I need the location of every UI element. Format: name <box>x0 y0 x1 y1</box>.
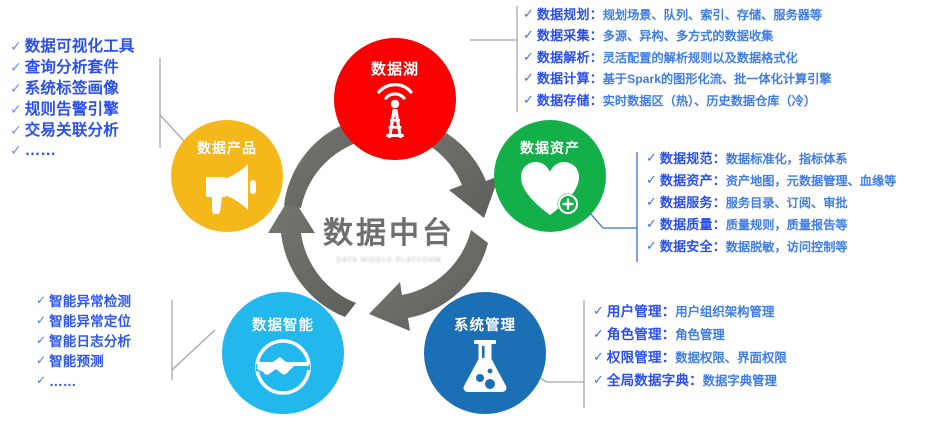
node-data-intelligence-label: 数据智能 <box>252 314 314 335</box>
list-item-text: 用户管理：用户组织架构管理 <box>607 303 774 322</box>
center-subtitle: DATA MIDDLE PLATFORM <box>336 257 441 264</box>
check-icon: ✓ <box>593 303 604 318</box>
list-item-text: 角色管理：角色管理 <box>607 326 725 345</box>
node-data-intelligence[interactable]: 数据智能 <box>222 292 344 414</box>
list-item-separator: ： <box>713 151 726 166</box>
list-item: ✓数据采集：多源、异构、多方式的数据收集 <box>523 27 832 46</box>
list-item: ✓智能预测 <box>36 353 131 372</box>
list-item-separator: ： <box>590 28 603 43</box>
list-item: ✓全局数据字典：数据字典管理 <box>593 372 787 391</box>
check-icon: ✓ <box>36 353 46 367</box>
list-item-description: 角色管理 <box>675 328 725 342</box>
list-item-term: 数据规划 <box>537 7 590 22</box>
list-item-term: …… <box>25 142 56 159</box>
list-item-term: 权限管理 <box>607 350 662 365</box>
list-item-description: 多源、异构、多方式的数据收集 <box>603 29 774 43</box>
list-item-text: 数据服务：服务目录、订阅、审批 <box>660 194 848 213</box>
list-item-text: 数据计算：基于Spark的图形化流、批一体化计算引擎 <box>537 70 832 89</box>
list-item: ✓数据规划：规划场景、队列、索引、存储、服务器等 <box>523 6 832 25</box>
list-item-separator: ： <box>590 93 603 108</box>
list-item-description: 灵活配置的解析规则以及数据格式化 <box>603 51 798 65</box>
list-item-term: 数据规范 <box>660 151 713 166</box>
list-item-description: 实时数据区（热）、历史数据仓库（冷） <box>603 94 816 108</box>
list-item-separator: ： <box>713 217 726 232</box>
node-data-lake-label: 数据湖 <box>371 58 419 79</box>
check-icon: ✓ <box>593 326 604 341</box>
check-icon: ✓ <box>646 238 657 253</box>
list-item-term: 数据采集 <box>537 28 590 43</box>
list-item-term: 全局数据字典 <box>607 373 689 388</box>
list-item-description: 质量规则，质量报告等 <box>726 218 848 232</box>
list-item-description: 数据权限、界面权限 <box>675 351 787 365</box>
node-data-lake[interactable]: 数据湖 <box>334 38 456 160</box>
text-block-data-assets: ✓数据规范：数据标准化，指标体系✓数据资产：资产地图，元数据管理、血缘等✓数据服… <box>646 150 896 259</box>
list-item-text: 交易关联分析 <box>25 122 119 141</box>
list-item: ✓系统标签画像 <box>10 80 135 99</box>
list-item: ✓数据服务：服务目录、订阅、审批 <box>646 194 896 213</box>
list-item-separator: ： <box>713 173 726 188</box>
list-item-text: 数据规范：数据标准化，指标体系 <box>660 150 848 169</box>
check-icon: ✓ <box>523 92 534 107</box>
page-title: 数据中台 <box>323 208 455 252</box>
node-system-management[interactable]: 系统管理 <box>424 292 546 414</box>
node-system-management-label: 系统管理 <box>454 314 516 335</box>
list-item: ✓数据质量：质量规则，质量报告等 <box>646 216 896 235</box>
list-item-description: 数据标准化，指标体系 <box>726 152 848 166</box>
list-item-separator: ： <box>662 327 676 342</box>
check-icon: ✓ <box>36 333 46 347</box>
check-icon: ✓ <box>523 70 534 85</box>
list-item-term: 角色管理 <box>607 327 662 342</box>
list-item-separator: ： <box>590 71 603 86</box>
check-icon: ✓ <box>36 293 46 307</box>
list-item-term: 智能异常定位 <box>49 314 131 329</box>
list-item: ✓交易关联分析 <box>10 122 135 141</box>
list-item: ✓…… <box>36 373 131 392</box>
list-item-text: 全局数据字典：数据字典管理 <box>607 372 777 391</box>
list-item: ✓…… <box>10 142 135 161</box>
check-icon: ✓ <box>646 216 657 231</box>
list-item: ✓智能日志分析 <box>36 333 131 352</box>
list-item-text: 智能日志分析 <box>49 333 131 352</box>
list-item: ✓智能异常检测 <box>36 293 131 312</box>
heart-plus-icon <box>519 160 581 218</box>
list-item-separator: ： <box>713 195 726 210</box>
text-block-data-products: ✓数据可视化工具✓查询分析套件✓系统标签画像✓规则告警引擎✓交易关联分析✓…… <box>10 38 135 163</box>
broadcast-tower-icon <box>366 82 424 142</box>
list-item-term: 规则告警引擎 <box>25 101 119 118</box>
list-item-description: 数据脱敏，访问控制等 <box>726 240 848 254</box>
list-item-separator: ： <box>662 304 676 319</box>
list-item: ✓数据资产：资产地图，元数据管理、血缘等 <box>646 172 896 191</box>
list-item-description: 规划场景、队列、索引、存储、服务器等 <box>603 8 822 22</box>
check-icon: ✓ <box>36 313 46 327</box>
list-item-separator: ： <box>689 373 703 388</box>
check-icon: ✓ <box>523 27 534 42</box>
list-item-term: 用户管理 <box>607 304 662 319</box>
text-block-data-lake: ✓数据规划：规划场景、队列、索引、存储、服务器等✓数据采集：多源、异构、多方式的… <box>523 6 832 113</box>
list-item-text: 权限管理：数据权限、界面权限 <box>607 349 787 368</box>
list-item-text: 智能异常定位 <box>49 313 131 332</box>
list-item-term: 智能日志分析 <box>49 334 131 349</box>
list-item-term: 数据资产 <box>660 173 713 188</box>
list-item-text: 智能预测 <box>49 353 104 372</box>
list-item: ✓数据可视化工具 <box>10 38 135 57</box>
check-icon: ✓ <box>646 150 657 165</box>
center-label-group: 数据中台 DATA MIDDLE PLATFORM <box>289 205 489 267</box>
list-item-term: 数据可视化工具 <box>25 38 135 55</box>
text-block-system-management: ✓用户管理：用户组织架构管理✓角色管理：角色管理✓权限管理：数据权限、界面权限✓… <box>593 303 787 395</box>
list-item: ✓数据存储：实时数据区（热）、历史数据仓库（冷） <box>523 92 832 111</box>
check-icon: ✓ <box>10 122 22 139</box>
megaphone-icon <box>196 162 258 214</box>
node-data-products-label: 数据产品 <box>197 138 257 158</box>
list-item-text: …… <box>25 142 56 161</box>
list-item-text: 系统标签画像 <box>25 80 119 99</box>
list-item-term: 智能预测 <box>49 354 104 369</box>
text-block-data-intelligence: ✓智能异常检测✓智能异常定位✓智能日志分析✓智能预测✓…… <box>36 293 131 392</box>
list-item: ✓数据规范：数据标准化，指标体系 <box>646 150 896 169</box>
list-item-description: 资产地图，元数据管理、血缘等 <box>726 174 897 188</box>
check-icon: ✓ <box>10 80 22 97</box>
list-item-text: 数据安全：数据脱敏，访问控制等 <box>660 238 848 257</box>
list-item-text: 查询分析套件 <box>25 59 119 78</box>
check-icon: ✓ <box>10 101 22 118</box>
list-item-term: 数据计算 <box>537 71 590 86</box>
list-item: ✓查询分析套件 <box>10 59 135 78</box>
list-item-text: 数据资产：资产地图，元数据管理、血缘等 <box>660 172 896 191</box>
list-item-description: 数据字典管理 <box>703 374 777 388</box>
list-item-text: 数据规划：规划场景、队列、索引、存储、服务器等 <box>537 6 822 25</box>
list-item: ✓规则告警引擎 <box>10 101 135 120</box>
handshake-icon <box>252 338 314 396</box>
list-item-term: 数据服务 <box>660 195 713 210</box>
list-item-term: 数据安全 <box>660 239 713 254</box>
list-item: ✓数据解析：灵活配置的解析规则以及数据格式化 <box>523 49 832 68</box>
list-item-text: …… <box>49 373 76 392</box>
flask-icon <box>460 338 510 394</box>
check-icon: ✓ <box>523 6 534 21</box>
list-item-term: 数据质量 <box>660 217 713 232</box>
list-item: ✓用户管理：用户组织架构管理 <box>593 303 787 322</box>
check-icon: ✓ <box>10 142 22 159</box>
list-item-term: …… <box>49 374 76 389</box>
check-icon: ✓ <box>10 59 22 76</box>
check-icon: ✓ <box>36 373 46 387</box>
list-item-term: 交易关联分析 <box>25 122 119 139</box>
list-item-separator: ： <box>590 7 603 22</box>
check-icon: ✓ <box>593 372 604 387</box>
list-item-term: 查询分析套件 <box>25 59 119 76</box>
list-item-separator: ： <box>662 350 676 365</box>
list-item-term: 系统标签画像 <box>25 80 119 97</box>
check-icon: ✓ <box>523 49 534 64</box>
list-item: ✓数据安全：数据脱敏，访问控制等 <box>646 238 896 257</box>
list-item: ✓数据计算：基于Spark的图形化流、批一体化计算引擎 <box>523 70 832 89</box>
node-data-assets[interactable]: 数据资产 <box>494 120 606 232</box>
list-item-text: 数据质量：质量规则，质量报告等 <box>660 216 848 235</box>
check-icon: ✓ <box>10 38 22 55</box>
list-item-text: 智能异常检测 <box>49 293 131 312</box>
list-item: ✓角色管理：角色管理 <box>593 326 787 345</box>
node-data-products[interactable]: 数据产品 <box>171 120 283 232</box>
check-icon: ✓ <box>593 349 604 364</box>
list-item-separator: ： <box>713 239 726 254</box>
list-item-text: 规则告警引擎 <box>25 101 119 120</box>
list-item-description: 服务目录、订阅、审批 <box>726 196 848 210</box>
list-item-term: 数据存储 <box>537 93 590 108</box>
diagram-canvas: 数据中台 DATA MIDDLE PLATFORM 数据湖 数据资产 <box>0 0 931 428</box>
list-item-text: 数据存储：实时数据区（热）、历史数据仓库（冷） <box>537 92 816 111</box>
list-item: ✓权限管理：数据权限、界面权限 <box>593 349 787 368</box>
check-icon: ✓ <box>646 194 657 209</box>
check-icon: ✓ <box>646 172 657 187</box>
list-item-term: 数据解析 <box>537 50 590 65</box>
list-item-text: 数据采集：多源、异构、多方式的数据收集 <box>537 27 773 46</box>
list-item-text: 数据解析：灵活配置的解析规则以及数据格式化 <box>537 49 798 68</box>
node-data-assets-label: 数据资产 <box>520 138 580 158</box>
list-item-term: 智能异常检测 <box>49 294 131 309</box>
list-item-separator: ： <box>590 50 603 65</box>
list-item-description: 用户组织架构管理 <box>675 305 774 319</box>
list-item-description: 基于Spark的图形化流、批一体化计算引擎 <box>603 72 832 86</box>
list-item-text: 数据可视化工具 <box>25 38 135 57</box>
list-item: ✓智能异常定位 <box>36 313 131 332</box>
